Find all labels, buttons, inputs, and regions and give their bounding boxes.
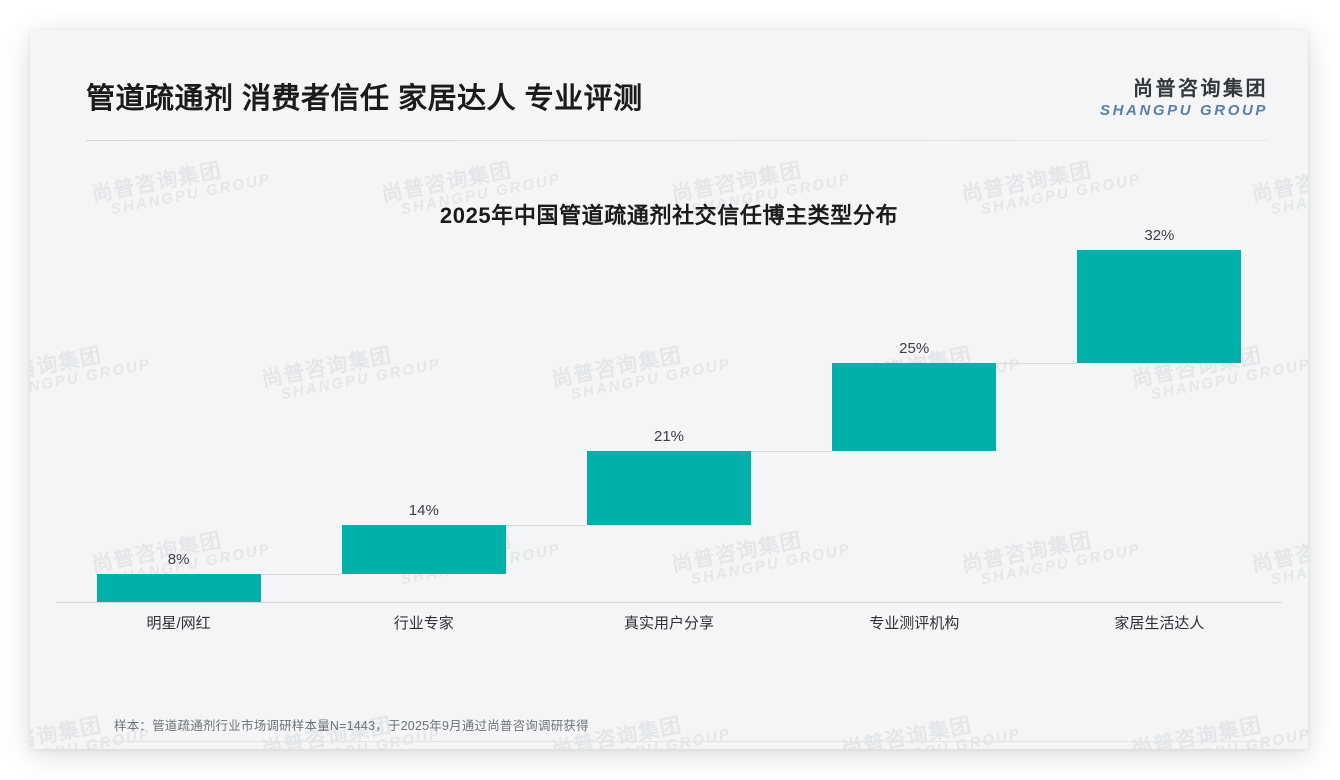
header-divider — [86, 140, 1268, 141]
step-connector-line — [506, 525, 587, 526]
step-connector-line — [261, 574, 342, 575]
logo-chinese-text: 尚普咨询集团 — [1100, 78, 1268, 101]
x-axis-tick-label-4: 家居生活达人 — [1037, 610, 1282, 640]
slide-header: 管道疏通剂 消费者信任 家居达人 专业评测 尚普咨询集团 SHANGPU GRO… — [30, 30, 1308, 122]
x-axis-tick-label-1: 行业专家 — [301, 610, 546, 640]
step-connector-line — [751, 451, 832, 452]
x-axis-tick-label-0: 明星/网红 — [56, 610, 301, 640]
chart-plot-area: 8%14%21%25%32% — [56, 250, 1282, 602]
bar-value-label: 25% — [832, 340, 996, 357]
page-title: 管道疏通剂 消费者信任 家居达人 专业评测 — [86, 75, 643, 117]
slide-footer: ©2025.11 SHANGPU GROUP www.shangpu-china… — [30, 742, 1308, 749]
slide-card: 尚普咨询集团SHANGPU GROUP尚普咨询集团SHANGPU GROUP尚普… — [30, 30, 1308, 749]
bar-value-label: 8% — [97, 551, 261, 568]
sample-note: 样本：管道疏通剂行业市场调研样本量N=1443，于2025年9月通过尚普咨询调研… — [114, 715, 589, 734]
bar-segment[interactable] — [1077, 250, 1241, 363]
x-axis-line — [56, 602, 1282, 603]
bar-segment[interactable] — [97, 574, 261, 602]
chart-title: 2025年中国管道疏通剂社交信任博主类型分布 — [30, 198, 1308, 230]
x-axis-category-labels: 明星/网红行业专家真实用户分享专业测评机构家居生活达人 — [56, 610, 1282, 640]
x-axis-tick-label-2: 真实用户分享 — [546, 610, 791, 640]
bar-value-label: 14% — [342, 502, 506, 519]
bar-segment[interactable] — [587, 451, 751, 525]
step-connector-line — [996, 363, 1077, 364]
logo-english-text: SHANGPU GROUP — [1100, 102, 1268, 120]
bar-segment[interactable] — [342, 525, 506, 574]
brand-logo: 尚普咨询集团 SHANGPU GROUP — [1100, 78, 1268, 120]
bar-segment[interactable] — [832, 363, 996, 451]
x-axis-tick-label-3: 专业测评机构 — [792, 610, 1037, 640]
bar-value-label: 21% — [587, 428, 751, 445]
